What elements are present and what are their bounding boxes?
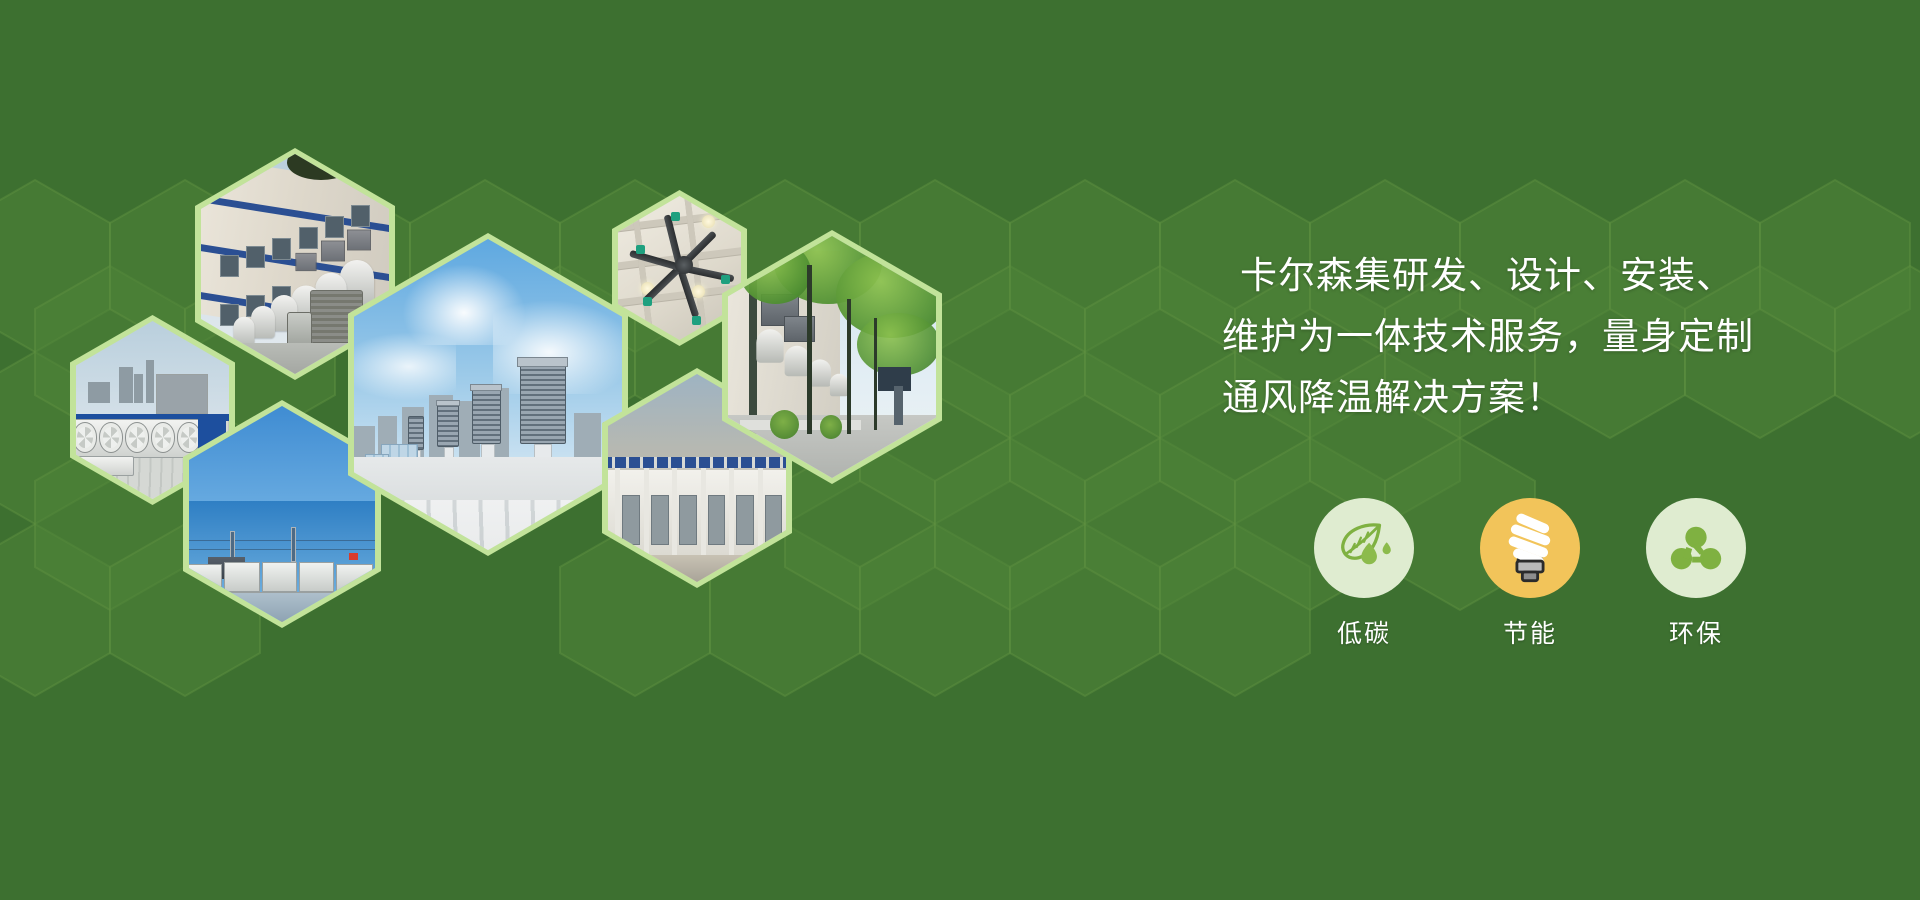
headline-line-2: 维护为一体技术服务，量身定制 [1222,306,1862,367]
photo-frame [189,406,375,622]
photo-art-tree-lined-street-units [728,236,936,478]
feature-low-carbon[interactable]: 低碳 [1310,498,1418,650]
headline-line-1: 卡尔森集研发、设计、安装、 [1222,245,1862,306]
cfl-bulb-icon [1499,512,1561,584]
photo-frame [728,236,936,478]
feature-label: 低碳 [1310,614,1418,650]
feature-eco-friendly[interactable]: 环保 [1642,498,1750,650]
promo-banner: 卡尔森集研发、设计、安装、 维护为一体技术服务，量身定制 通风降温解决方案！ 低… [0,0,1920,900]
feature-label: 环保 [1642,614,1750,650]
photo-art-waterside-cooler-units [189,406,375,622]
molecule-recycle-icon [1665,517,1727,579]
feature-disc [1314,498,1414,598]
leaf-waterdrop-icon [1331,515,1397,581]
feature-energy-saving[interactable]: 节能 [1476,498,1584,650]
feature-disc [1480,498,1580,598]
feature-badge-group: 低碳 节能 [1310,498,1750,650]
headline-copy: 卡尔森集研发、设计、安装、 维护为一体技术服务，量身定制 通风降温解决方案！ [1222,245,1862,428]
feature-label: 节能 [1476,614,1584,650]
feature-disc [1646,498,1746,598]
headline-line-3: 通风降温解决方案！ [1222,367,1862,428]
